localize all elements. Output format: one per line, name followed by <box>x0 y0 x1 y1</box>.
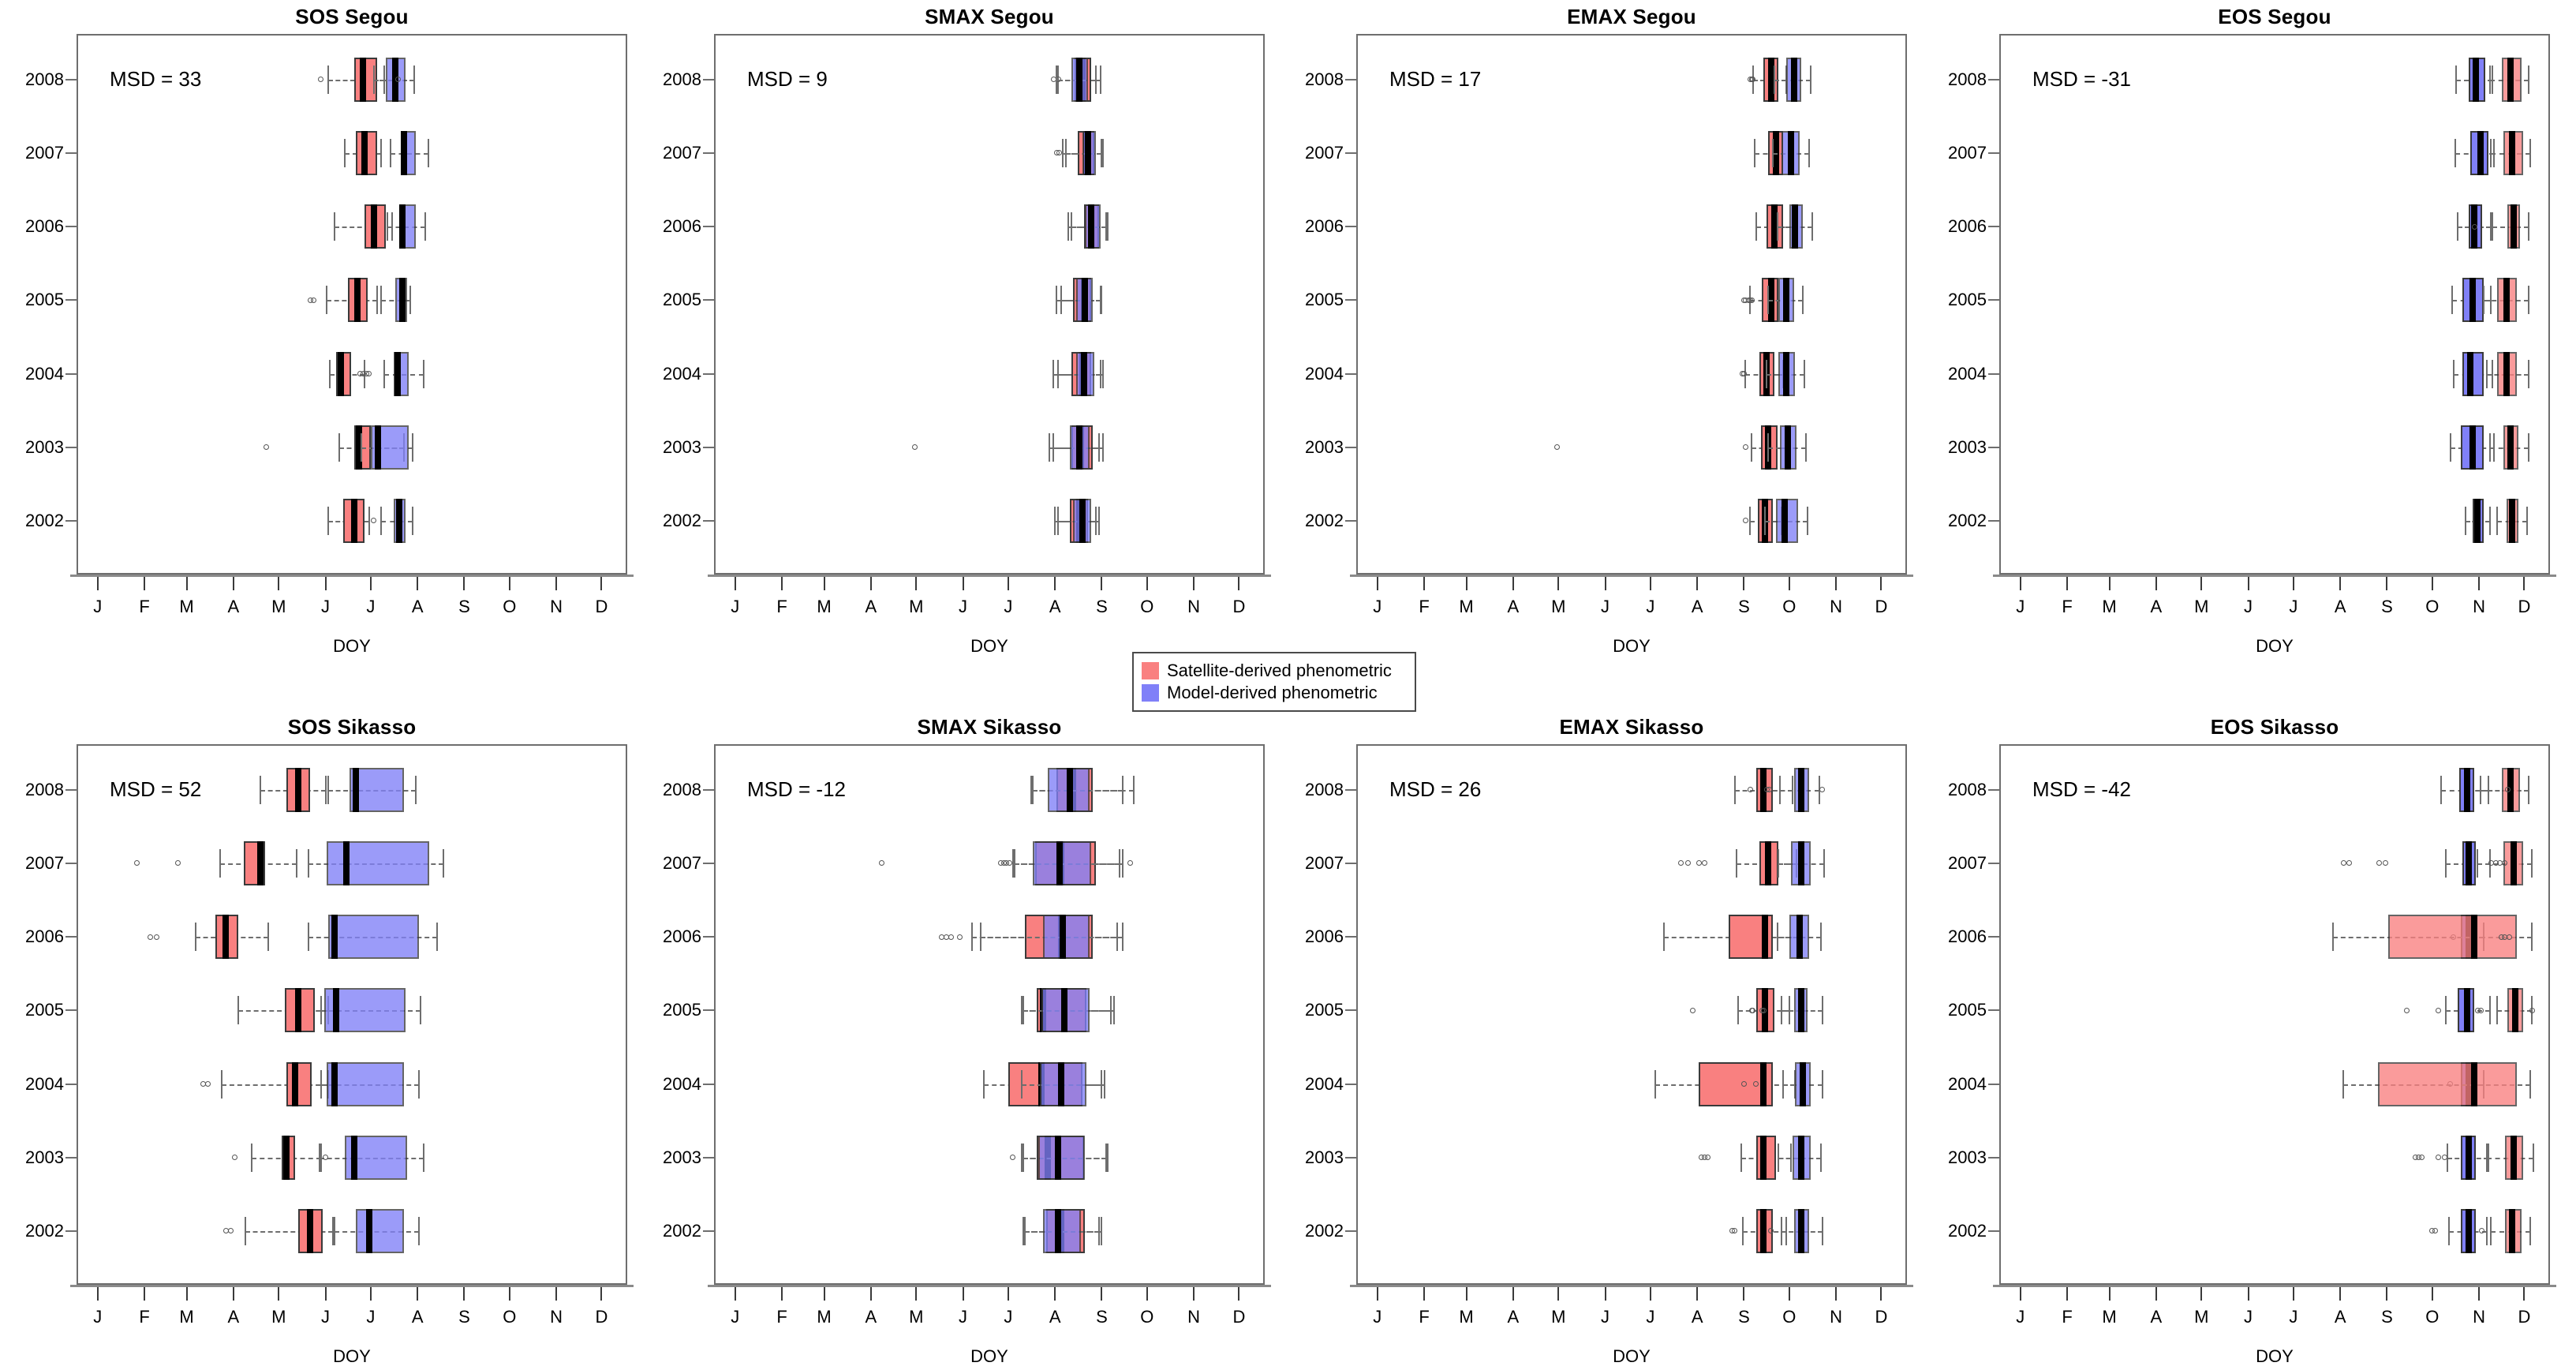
x-label-eos-segou-F: F <box>2062 597 2072 617</box>
whisker-cap-smax-sikasso-2007-satellite-hi <box>1122 849 1123 878</box>
median-eos-segou-2003-model <box>2469 425 2476 470</box>
outlier-eos-sikasso-2005-model-1 <box>2436 1008 2441 1013</box>
outlier-emax-sikasso-2004-satellite-0 <box>1741 1081 1747 1087</box>
whisker-cap-eos-sikasso-2005-satellite-lo <box>2496 996 2498 1024</box>
x-tick-smax-sikasso-O <box>1146 1287 1148 1301</box>
year-label-eos-segou-2005: 2005 <box>1930 290 1987 310</box>
median-emax-sikasso-2004-satellite <box>1760 1062 1767 1106</box>
median-sos-segou-2002-satellite <box>351 499 357 543</box>
whisker-cap-smax-sikasso-2003-model-hi <box>1105 1144 1107 1172</box>
median-eos-sikasso-2007-satellite <box>2511 841 2517 885</box>
median-emax-sikasso-2006-model <box>1796 915 1803 959</box>
whisker-cap-emax-segou-2003-satellite-lo <box>1751 433 1752 462</box>
whisker-cap-eos-segou-2005-satellite-lo <box>2483 286 2484 314</box>
median-emax-segou-2004-model <box>1783 352 1789 396</box>
whisker-cap-emax-segou-2002-model-hi <box>1807 507 1808 535</box>
whisker-cap-smax-segou-2004-model-lo <box>1057 360 1059 388</box>
x-tick-smax-segou-S <box>1101 577 1102 590</box>
year-tick-sos-segou-2005 <box>65 299 77 301</box>
year-tick-sos-sikasso-2006 <box>65 936 77 938</box>
x-tick-sos-sikasso-J <box>370 1287 372 1301</box>
x-label-smax-sikasso-O: O <box>1140 1307 1153 1327</box>
x-label-smax-sikasso-N: N <box>1187 1307 1200 1327</box>
figure-root: SOS SegouMSD = 3320082007200620052004200… <box>0 0 2576 1370</box>
whisker-cap-sos-segou-2003-model-lo <box>361 433 362 462</box>
x-label-smax-sikasso-S: S <box>1096 1307 1108 1327</box>
year-label-smax-sikasso-2003: 2003 <box>645 1147 701 1168</box>
year-label-emax-segou-2008: 2008 <box>1287 69 1344 90</box>
whisker-cap-emax-sikasso-2008-satellite-lo <box>1734 776 1736 804</box>
x-tick-smax-sikasso-J <box>1008 1287 1009 1301</box>
x-tick-sos-sikasso-O <box>509 1287 510 1301</box>
x-tick-eos-sikasso-J <box>2293 1287 2294 1301</box>
median-smax-sikasso-2007-model <box>1056 841 1063 885</box>
box-eos-sikasso-2006-satellite <box>2388 915 2517 959</box>
x-tick-eos-segou-M <box>2109 577 2111 590</box>
year-tick-sos-sikasso-2007 <box>65 863 77 864</box>
x-label-emax-segou-N: N <box>1830 597 1842 617</box>
median-eos-sikasso-2002-satellite <box>2509 1209 2515 1253</box>
x-label-emax-segou-M: M <box>1551 597 1565 617</box>
whisker-cap-emax-sikasso-2003-satellite-lo <box>1740 1144 1742 1172</box>
plot-frame-smax-segou <box>714 34 1265 575</box>
year-label-smax-sikasso-2008: 2008 <box>645 780 701 800</box>
box-smax-sikasso-2003-model <box>1038 1136 1085 1180</box>
x-label-emax-sikasso-N: N <box>1830 1307 1842 1327</box>
outlier-smax-sikasso-2006-satellite-3 <box>957 934 963 940</box>
whisker-cap-emax-segou-2002-model-lo <box>1764 507 1766 535</box>
year-label-emax-sikasso-2007: 2007 <box>1287 853 1344 874</box>
median-smax-segou-2004-model <box>1081 352 1087 396</box>
box-sos-sikasso-2006-model <box>328 915 419 959</box>
year-tick-sos-segou-2007 <box>65 152 77 154</box>
x-tick-sos-segou-J <box>370 577 372 590</box>
x-tick-smax-sikasso-M <box>915 1287 917 1301</box>
x-label-sos-sikasso-J: J <box>93 1307 102 1327</box>
year-tick-smax-segou-2004 <box>703 373 714 375</box>
x-label-sos-segou-D: D <box>596 597 608 617</box>
x-tick-smax-sikasso-A <box>870 1287 872 1301</box>
year-label-smax-segou-2003: 2003 <box>645 437 701 458</box>
whisker-cap-emax-sikasso-2005-model-lo <box>1781 996 1782 1024</box>
x-tick-emax-sikasso-J <box>1377 1287 1378 1301</box>
x-label-sos-segou-J: J <box>321 597 330 617</box>
x-tick-eos-segou-O <box>2432 577 2433 590</box>
x-label-eos-segou-A: A <box>2335 597 2346 617</box>
whisker-cap-eos-sikasso-2007-model-lo <box>2445 849 2447 878</box>
whisker-cap-smax-segou-2006-model-hi <box>1107 212 1109 241</box>
outlier-emax-sikasso-2005-satellite-4 <box>1761 1008 1767 1013</box>
year-label-sos-segou-2003: 2003 <box>7 437 64 458</box>
x-tick-sos-segou-A <box>417 577 418 590</box>
median-emax-segou-2008-model <box>1791 58 1797 102</box>
x-label-emax-segou-F: F <box>1419 597 1429 617</box>
whisker-cap-smax-segou-2008-satellite-hi <box>1100 66 1101 94</box>
x-label-smax-segou-N: N <box>1187 597 1200 617</box>
median-sos-sikasso-2004-model <box>331 1062 338 1106</box>
x-label-sos-segou-J: J <box>93 597 102 617</box>
x-label-emax-sikasso-F: F <box>1419 1307 1429 1327</box>
whisker-cap-eos-sikasso-2008-satellite-lo <box>2480 776 2481 804</box>
median-emax-segou-2002-model <box>1782 499 1788 543</box>
legend-swatch-model-derived-phenometric <box>1142 684 1159 702</box>
outlier-sos-sikasso-2006-satellite-1 <box>154 934 159 940</box>
panel-title-emax-sikasso: EMAX Sikasso <box>1356 715 1907 739</box>
x-label-sos-sikasso-M: M <box>179 1307 193 1327</box>
whisker-cap-eos-segou-2007-model-lo <box>2454 139 2456 167</box>
x-label-sos-sikasso-J: J <box>321 1307 330 1327</box>
x-label-smax-segou-A: A <box>1049 597 1061 617</box>
year-tick-eos-segou-2002 <box>1988 520 1999 522</box>
year-tick-emax-segou-2003 <box>1345 447 1356 448</box>
year-label-sos-sikasso-2008: 2008 <box>7 780 64 800</box>
median-sos-sikasso-2002-satellite <box>307 1209 313 1253</box>
year-label-sos-segou-2004: 2004 <box>7 364 64 384</box>
x-label-emax-sikasso-J: J <box>1601 1307 1610 1327</box>
x-label-sos-segou-F: F <box>139 597 149 617</box>
x-label-emax-sikasso-D: D <box>1875 1307 1888 1327</box>
panel-emax-segou: EMAX SegouMSD = 172008200720062005200420… <box>1280 0 1923 694</box>
whisker-cap-sos-sikasso-2007-satellite-lo <box>219 849 221 878</box>
whisker-cap-sos-segou-2006-model-hi <box>424 212 426 241</box>
year-tick-eos-sikasso-2003 <box>1988 1157 1999 1159</box>
year-tick-emax-segou-2002 <box>1345 520 1356 522</box>
axis-title-emax-sikasso: DOY <box>1613 1346 1651 1367</box>
x-tick-smax-sikasso-F <box>781 1287 783 1301</box>
year-label-sos-segou-2008: 2008 <box>7 69 64 90</box>
whisker-cap-smax-sikasso-2006-satellite-lo <box>971 923 973 951</box>
median-emax-segou-2007-model <box>1788 131 1794 175</box>
whisker-cap-sos-sikasso-2007-model-lo <box>308 849 309 878</box>
x-tick-sos-segou-S <box>463 577 465 590</box>
x-axis-line-sos-sikasso <box>70 1285 634 1287</box>
x-label-eos-segou-N: N <box>2473 597 2485 617</box>
whisker-cap-sos-segou-2005-model-lo <box>380 286 382 314</box>
median-sos-sikasso-2005-satellite <box>295 988 301 1032</box>
whisker-cap-eos-segou-2005-model-lo <box>2451 286 2453 314</box>
x-tick-emax-segou-A <box>1512 577 1514 590</box>
x-label-sos-sikasso-D: D <box>596 1307 608 1327</box>
x-tick-emax-sikasso-N <box>1835 1287 1837 1301</box>
year-tick-sos-sikasso-2004 <box>65 1084 77 1085</box>
median-eos-segou-2007-model <box>2477 131 2484 175</box>
whisker-cap-eos-segou-2006-satellite-lo <box>2492 212 2493 241</box>
median-eos-sikasso-2003-satellite <box>2511 1136 2517 1180</box>
median-smax-sikasso-2002-model <box>1055 1209 1061 1253</box>
x-tick-sos-sikasso-F <box>144 1287 145 1301</box>
box-smax-sikasso-2006-model <box>1043 915 1090 959</box>
x-tick-eos-segou-J <box>2020 577 2021 590</box>
x-label-eos-sikasso-J: J <box>2289 1307 2297 1327</box>
whisker-cap-sos-sikasso-2002-model-lo <box>334 1217 335 1245</box>
whisker-cap-eos-segou-2007-satellite-lo <box>2490 139 2492 167</box>
x-tick-eos-sikasso-S <box>2386 1287 2387 1301</box>
year-tick-sos-segou-2003 <box>65 447 77 448</box>
year-tick-emax-sikasso-2007 <box>1345 863 1356 864</box>
outlier-sos-segou-2005-satellite-1 <box>311 298 316 303</box>
whisker-cap-smax-sikasso-2005-model-lo <box>1023 996 1024 1024</box>
whisker-cap-eos-segou-2002-model-hi <box>2489 507 2491 535</box>
whisker-cap-sos-sikasso-2004-model-hi <box>418 1070 420 1099</box>
legend-item-model-derived-phenometric: Model-derived phenometric <box>1142 682 1404 704</box>
x-tick-eos-segou-J <box>2248 577 2249 590</box>
whisker-cap-emax-sikasso-2005-satellite-lo <box>1737 996 1739 1024</box>
x-tick-smax-segou-M <box>915 577 917 590</box>
x-label-sos-segou-O: O <box>503 597 516 617</box>
median-sos-sikasso-2006-model <box>331 915 338 959</box>
whisker-cap-sos-segou-2003-model-hi <box>412 433 413 462</box>
whisker-cap-smax-sikasso-2002-satellite-hi <box>1101 1217 1102 1245</box>
median-emax-sikasso-2005-model <box>1798 988 1804 1032</box>
plot-frame-smax-sikasso <box>714 744 1265 1285</box>
year-tick-smax-segou-2002 <box>703 520 714 522</box>
x-tick-sos-segou-M <box>278 577 279 590</box>
x-tick-smax-segou-J <box>1008 577 1009 590</box>
year-tick-eos-segou-2007 <box>1988 152 1999 154</box>
x-tick-sos-sikasso-J <box>97 1287 99 1301</box>
outlier-eos-sikasso-2005-model-0 <box>2404 1008 2410 1013</box>
whisker-cap-sos-sikasso-2004-model-lo <box>320 1070 322 1099</box>
median-sos-segou-2002-model <box>396 499 402 543</box>
x-tick-sos-segou-J <box>97 577 99 590</box>
x-label-smax-sikasso-M: M <box>909 1307 923 1327</box>
x-label-eos-segou-J: J <box>2016 597 2025 617</box>
whisker-cap-sos-segou-2005-satellite-lo <box>326 286 327 314</box>
panel-sos-segou: SOS SegouMSD = 3320082007200620052004200… <box>0 0 643 694</box>
x-label-smax-segou-F: F <box>776 597 787 617</box>
whisker-cap-sos-segou-2004-model-hi <box>423 360 424 388</box>
year-tick-sos-sikasso-2008 <box>65 789 77 791</box>
outlier-emax-segou-2005-satellite-4 <box>1749 298 1755 303</box>
whisker-cap-smax-sikasso-2008-model-lo <box>1030 776 1032 804</box>
year-label-smax-segou-2005: 2005 <box>645 290 701 310</box>
x-label-emax-segou-D: D <box>1875 597 1888 617</box>
year-label-smax-segou-2008: 2008 <box>645 69 701 90</box>
whisker-cap-eos-sikasso-2005-model-hi <box>2489 996 2491 1024</box>
x-label-eos-sikasso-A: A <box>2335 1307 2346 1327</box>
year-label-emax-segou-2005: 2005 <box>1287 290 1344 310</box>
axis-title-sos-segou: DOY <box>333 636 371 657</box>
median-sos-sikasso-2008-model <box>353 768 359 812</box>
whisker-cap-smax-sikasso-2004-model-lo <box>1021 1070 1023 1099</box>
whisker-cap-smax-segou-2002-model-lo <box>1057 507 1059 535</box>
x-tick-eos-sikasso-D <box>2523 1287 2525 1301</box>
median-eos-sikasso-2007-model <box>2466 841 2472 885</box>
outlier-sos-sikasso-2004-satellite-1 <box>205 1081 211 1087</box>
x-label-smax-sikasso-A: A <box>1049 1307 1061 1327</box>
whisker-cap-smax-segou-2005-satellite-lo <box>1056 286 1057 314</box>
x-label-eos-segou-S: S <box>2381 597 2393 617</box>
x-label-sos-sikasso-S: S <box>458 1307 470 1327</box>
outlier-eos-sikasso-2006-satellite-2 <box>2507 934 2512 940</box>
median-eos-segou-2002-model <box>2474 499 2481 543</box>
x-label-emax-sikasso-M: M <box>1459 1307 1473 1327</box>
x-label-smax-sikasso-F: F <box>776 1307 787 1327</box>
whisker-cap-eos-segou-2008-satellite-lo <box>2489 66 2491 94</box>
year-label-sos-sikasso-2003: 2003 <box>7 1147 64 1168</box>
year-label-sos-segou-2007: 2007 <box>7 143 64 163</box>
panel-emax-sikasso: EMAX SikassoMSD = 2620082007200620052004… <box>1280 710 1923 1370</box>
whisker-cap-smax-segou-2003-model-lo <box>1052 433 1054 462</box>
x-tick-sos-sikasso-D <box>600 1287 602 1301</box>
x-label-sos-segou-S: S <box>458 597 470 617</box>
x-label-smax-segou-D: D <box>1233 597 1246 617</box>
whisker-cap-sos-segou-2008-model-hi <box>413 66 415 94</box>
year-label-smax-sikasso-2005: 2005 <box>645 1000 701 1020</box>
year-tick-eos-segou-2008 <box>1988 79 1999 80</box>
outlier-emax-sikasso-2008-satellite-0 <box>1748 787 1753 792</box>
year-tick-eos-sikasso-2004 <box>1988 1084 1999 1085</box>
x-tick-eos-segou-S <box>2386 577 2387 590</box>
panel-sos-sikasso: SOS SikassoMSD = 52200820072006200520042… <box>0 710 643 1370</box>
whisker-cap-emax-sikasso-2003-model-hi <box>1820 1144 1822 1172</box>
median-sos-segou-2007-satellite <box>361 131 368 175</box>
x-label-eos-segou-O: O <box>2425 597 2439 617</box>
whisker-cap-eos-segou-2006-satellite-hi <box>2528 212 2529 241</box>
whisker-cap-sos-segou-2007-satellite-hi <box>380 139 382 167</box>
x-label-smax-segou-O: O <box>1140 597 1153 617</box>
year-label-eos-sikasso-2004: 2004 <box>1930 1074 1987 1095</box>
year-tick-emax-sikasso-2006 <box>1345 936 1356 938</box>
year-tick-smax-sikasso-2007 <box>703 863 714 864</box>
whisker-cap-emax-segou-2008-model-lo <box>1774 66 1775 94</box>
x-tick-emax-segou-M <box>1557 577 1559 590</box>
median-sos-segou-2005-model <box>399 278 406 322</box>
x-tick-smax-sikasso-N <box>1193 1287 1195 1301</box>
x-label-eos-sikasso-O: O <box>2425 1307 2439 1327</box>
whisker-cap-emax-sikasso-2002-model-hi <box>1822 1217 1823 1245</box>
x-tick-emax-sikasso-S <box>1743 1287 1744 1301</box>
median-emax-segou-2005-model <box>1783 278 1789 322</box>
x-tick-eos-segou-D <box>2523 577 2525 590</box>
x-label-sos-sikasso-J: J <box>366 1307 375 1327</box>
whisker-cap-smax-sikasso-2003-satellite-hi <box>1107 1144 1109 1172</box>
median-eos-segou-2007-satellite <box>2509 131 2515 175</box>
median-eos-segou-2004-satellite <box>2503 352 2510 396</box>
median-smax-sikasso-2005-model <box>1061 988 1067 1032</box>
x-tick-emax-segou-J <box>1377 577 1378 590</box>
whisker-cap-sos-segou-2005-model-hi <box>409 286 411 314</box>
x-tick-emax-sikasso-A <box>1512 1287 1514 1301</box>
x-tick-smax-segou-D <box>1238 577 1239 590</box>
whisker-cap-emax-sikasso-2003-model-lo <box>1778 1144 1779 1172</box>
year-label-smax-segou-2006: 2006 <box>645 216 701 237</box>
year-tick-emax-sikasso-2004 <box>1345 1084 1356 1085</box>
box-sos-sikasso-2007-model <box>327 841 429 885</box>
x-label-smax-sikasso-J: J <box>959 1307 967 1327</box>
x-label-eos-segou-M: M <box>2194 597 2208 617</box>
msd-label-sos-sikasso: MSD = 52 <box>110 777 201 802</box>
x-label-eos-segou-J: J <box>2289 597 2297 617</box>
whisker-cap-sos-sikasso-2008-model-hi <box>415 776 417 804</box>
year-label-eos-segou-2002: 2002 <box>1930 511 1987 531</box>
whisker-cap-sos-sikasso-2002-satellite-lo <box>245 1217 246 1245</box>
median-sos-sikasso-2006-satellite <box>222 915 229 959</box>
x-tick-eos-sikasso-M <box>2109 1287 2111 1301</box>
whisker-cap-sos-segou-2006-satellite-lo <box>334 212 335 241</box>
whisker-cap-eos-segou-2002-satellite-lo <box>2496 507 2498 535</box>
whisker-cap-emax-segou-2003-model-hi <box>1805 433 1807 462</box>
year-label-smax-segou-2004: 2004 <box>645 364 701 384</box>
x-label-emax-sikasso-O: O <box>1782 1307 1796 1327</box>
whisker-cap-sos-sikasso-2006-satellite-lo <box>195 923 196 951</box>
year-tick-smax-sikasso-2008 <box>703 789 714 791</box>
year-label-sos-sikasso-2002: 2002 <box>7 1221 64 1241</box>
x-tick-eos-segou-J <box>2293 577 2294 590</box>
whisker-cap-eos-segou-2005-satellite-hi <box>2528 286 2529 314</box>
whisker-cap-eos-segou-2003-satellite-hi <box>2528 433 2529 462</box>
x-label-eos-sikasso-A: A <box>2151 1307 2163 1327</box>
year-tick-sos-sikasso-2002 <box>65 1230 77 1232</box>
year-tick-smax-segou-2007 <box>703 152 714 154</box>
whisker-cap-emax-segou-2006-satellite-lo <box>1755 212 1757 241</box>
whisker-cap-emax-sikasso-2004-model-lo <box>1782 1070 1784 1099</box>
median-sos-segou-2006-model <box>399 204 406 249</box>
x-tick-eos-segou-M <box>2200 577 2202 590</box>
x-label-eos-segou-M: M <box>2102 597 2116 617</box>
x-label-emax-segou-M: M <box>1459 597 1473 617</box>
year-tick-smax-sikasso-2006 <box>703 936 714 938</box>
x-label-sos-sikasso-O: O <box>503 1307 516 1327</box>
whisker-cap-emax-segou-2006-model-hi <box>1811 212 1813 241</box>
median-eos-segou-2006-satellite <box>2511 204 2517 249</box>
x-tick-eos-sikasso-J <box>2248 1287 2249 1301</box>
median-emax-sikasso-2007-model <box>1798 841 1804 885</box>
median-eos-sikasso-2006-satellite <box>2471 915 2477 959</box>
whisker-cap-eos-segou-2008-satellite-hi <box>2528 66 2529 94</box>
axis-title-emax-segou: DOY <box>1613 636 1651 657</box>
x-label-eos-segou-J: J <box>2244 597 2253 617</box>
whisker-cap-eos-sikasso-2006-satellite-lo <box>2332 923 2334 951</box>
outlier-sos-sikasso-2006-satellite-0 <box>148 934 153 940</box>
x-label-eos-sikasso-M: M <box>2194 1307 2208 1327</box>
whisker-cap-sos-sikasso-2003-model-lo <box>319 1144 320 1172</box>
whisker-cap-smax-segou-2004-model-hi <box>1102 360 1104 388</box>
x-tick-smax-segou-A <box>1054 577 1056 590</box>
whisker-cap-eos-segou-2003-satellite-lo <box>2489 433 2491 462</box>
whisker-cap-eos-sikasso-2008-satellite-hi <box>2528 776 2529 804</box>
whisker-cap-sos-sikasso-2008-satellite-hi <box>325 776 327 804</box>
whisker-cap-smax-segou-2002-satellite-lo <box>1054 507 1056 535</box>
outlier-eos-sikasso-2003-model-4 <box>2442 1155 2447 1160</box>
year-label-eos-segou-2008: 2008 <box>1930 69 1987 90</box>
median-eos-sikasso-2002-model <box>2466 1209 2472 1253</box>
median-eos-segou-2008-model <box>2473 58 2479 102</box>
whisker-cap-smax-segou-2005-model-lo <box>1060 286 1062 314</box>
x-tick-smax-segou-O <box>1146 577 1148 590</box>
year-tick-emax-segou-2007 <box>1345 152 1356 154</box>
whisker-cap-sos-sikasso-2007-model-hi <box>443 849 444 878</box>
x-tick-sos-segou-A <box>233 577 234 590</box>
whisker-cap-smax-sikasso-2002-model-lo <box>1023 1217 1024 1245</box>
panel-smax-sikasso: SMAX SikassoMSD = -122008200720062005200… <box>637 710 1281 1370</box>
whisker-cap-emax-segou-2007-model-hi <box>1808 139 1810 167</box>
median-eos-sikasso-2005-model <box>2464 988 2470 1032</box>
whisker-cap-emax-sikasso-2004-model-hi <box>1822 1070 1823 1099</box>
median-eos-sikasso-2004-satellite <box>2471 1062 2477 1106</box>
box-sos-sikasso-2004-satellite <box>286 1062 312 1106</box>
year-label-eos-sikasso-2006: 2006 <box>1930 926 1987 947</box>
x-tick-emax-sikasso-D <box>1880 1287 1882 1301</box>
median-smax-sikasso-2008-model <box>1067 768 1073 812</box>
x-tick-eos-sikasso-A <box>2155 1287 2157 1301</box>
whisker-cap-smax-sikasso-2004-model-hi <box>1104 1070 1105 1099</box>
whisker-cap-sos-sikasso-2008-model-lo <box>327 776 329 804</box>
x-label-eos-sikasso-D: D <box>2518 1307 2531 1327</box>
year-tick-smax-sikasso-2004 <box>703 1084 714 1085</box>
panel-smax-segou: SMAX SegouMSD = 920082007200620052004200… <box>637 0 1281 694</box>
x-tick-emax-segou-J <box>1650 577 1651 590</box>
